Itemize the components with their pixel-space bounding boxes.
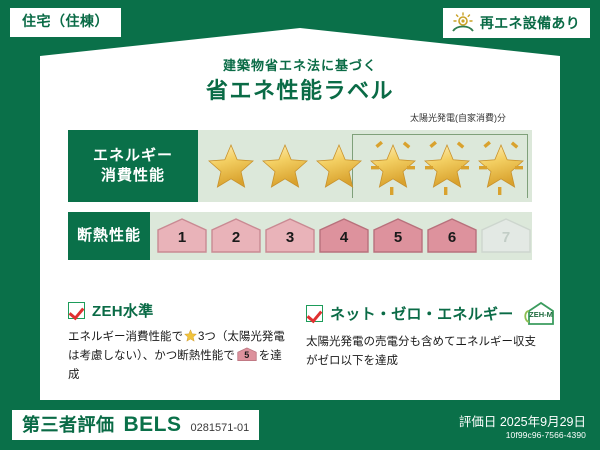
svg-text:ZEH-M: ZEH-M: [529, 310, 553, 319]
building-type-tag-label: 住宅（住棟）: [22, 13, 109, 29]
zeh-m-logo-caption: (ZEH-M): [567, 320, 590, 326]
criterion-zeh-title: ZEH水準: [92, 300, 154, 321]
insulation-level-2: 2: [210, 217, 262, 255]
star-4-solar: [366, 134, 420, 198]
gold-star-icon: [261, 143, 309, 189]
insulation-level-4: 4: [318, 217, 370, 255]
star-2: [258, 134, 312, 198]
insulation-level-1: 1: [156, 217, 208, 255]
check-icon: [68, 302, 85, 319]
ratings-section: エネルギー 消費性能 太陽光発電(自家消費)分: [68, 130, 532, 260]
star-rating: [198, 134, 528, 198]
title-subtitle: 建築物省エネ法に基づく: [40, 58, 560, 74]
third-party-evaluation-label: 第三者評価: [22, 416, 115, 434]
criterion-zeh: ZEH水準 エネルギー消費性能で3つ（太陽光発電は考慮しない）、かつ断熱性能で5…: [68, 300, 288, 385]
insulation-level-7-number: 7: [480, 230, 532, 245]
criterion-zeh-header: ZEH水準: [68, 300, 288, 321]
criterion-net-zero-energy: ネット・ゼロ・エネルギー ZEH-M (ZEH-M) 太陽光発電の売電分も含めて…: [306, 300, 538, 385]
sparkle-icon: [474, 134, 528, 198]
insulation-performance-label: 断熱性能: [68, 212, 150, 260]
evaluation-date-value: 2025年9月29日: [500, 415, 586, 429]
insulation-level-3: 3: [264, 217, 316, 255]
renewable-energy-badge: 再エネ設備あり: [443, 8, 590, 38]
insulation-performance-row: 断熱性能 1 2: [68, 212, 532, 260]
star-1: [204, 134, 258, 198]
star-3: [312, 134, 366, 198]
zeh-text-part1: エネルギー消費性能で: [68, 331, 183, 343]
criterion-nze-description: 太陽光発電の売電分も含めてエネルギー収支がゼロ以下を達成: [306, 333, 538, 371]
gold-star-icon: [315, 143, 363, 189]
criterion-nze-title: ネット・ゼロ・エネルギー: [330, 303, 514, 324]
certificate-number: 0281571-01: [191, 423, 250, 434]
star-5-solar: [420, 134, 474, 198]
check-icon: [306, 305, 323, 322]
insulation-label-text: 断熱性能: [77, 226, 141, 246]
zeh-m-logo: ZEH-M (ZEH-M): [522, 300, 568, 326]
main-panel: 建築物省エネ法に基づく 省エネ性能ラベル エネルギー 消費性能 太陽光発電(自家…: [40, 28, 560, 400]
insulation-level-1-number: 1: [156, 230, 208, 245]
title-block: 建築物省エネ法に基づく 省エネ性能ラベル: [40, 58, 560, 105]
sparkle-icon: [420, 134, 474, 198]
insulation-level-scale: 1 2 3: [150, 217, 532, 255]
insulation-level-3-number: 3: [264, 230, 316, 245]
house-icon: 5: [237, 347, 257, 362]
bels-logo-text: BELS: [124, 414, 182, 435]
insulation-level-6: 6: [426, 217, 478, 255]
criterion-zeh-description: エネルギー消費性能で3つ（太陽光発電は考慮しない）、かつ断熱性能で5を達成: [68, 328, 288, 385]
bels-energy-label: 建築物省エネ法に基づく 省エネ性能ラベル エネルギー 消費性能 太陽光発電(自家…: [0, 0, 600, 450]
insulation-level-6-number: 6: [426, 230, 478, 245]
insulation-level-5: 5: [372, 217, 424, 255]
insulation-rating-body: 1 2 3: [150, 212, 532, 260]
renewable-energy-badge-label: 再エネ設備あり: [480, 16, 580, 30]
criterion-nze-header: ネット・ゼロ・エネルギー ZEH-M (ZEH-M): [306, 300, 538, 326]
evaluation-meta: 評価日 2025年9月29日 10f99c96-7566-4390: [459, 414, 586, 442]
page-title: 省エネ性能ラベル: [40, 77, 560, 106]
energy-performance-label: エネルギー 消費性能: [68, 130, 198, 202]
energy-performance-row: エネルギー 消費性能 太陽光発電(自家消費)分: [68, 130, 532, 202]
sun-icon: [451, 12, 475, 34]
insulation-level-7: 7: [480, 217, 532, 255]
gold-star-icon: [184, 329, 197, 342]
bels-certification-footer: 第三者評価 BELS 0281571-01: [12, 410, 259, 440]
criteria-section: ZEH水準 エネルギー消費性能で3つ（太陽光発電は考慮しない）、かつ断熱性能で5…: [68, 300, 538, 385]
sparkle-icon: [366, 134, 420, 198]
evaluation-date-label: 評価日: [459, 415, 497, 429]
energy-label-line2: 消費性能: [101, 166, 165, 186]
star-6-solar: [474, 134, 528, 198]
document-uid: 10f99c96-7566-4390: [459, 430, 586, 442]
energy-rating-body: 太陽光発電(自家消費)分: [198, 130, 532, 202]
insulation-level-4-number: 4: [318, 230, 370, 245]
solar-portion-caption: 太陽光発電(自家消費)分: [410, 111, 506, 124]
zeh-house-level: 5: [237, 351, 257, 360]
building-type-tag: 住宅（住棟）: [10, 8, 121, 37]
zeh-m-house-icon: ZEH-M: [522, 300, 568, 326]
insulation-level-2-number: 2: [210, 230, 262, 245]
energy-label-line1: エネルギー: [93, 146, 173, 166]
insulation-level-5-number: 5: [372, 230, 424, 245]
evaluation-date-line: 評価日 2025年9月29日: [459, 414, 586, 430]
gold-star-icon: [207, 143, 255, 189]
